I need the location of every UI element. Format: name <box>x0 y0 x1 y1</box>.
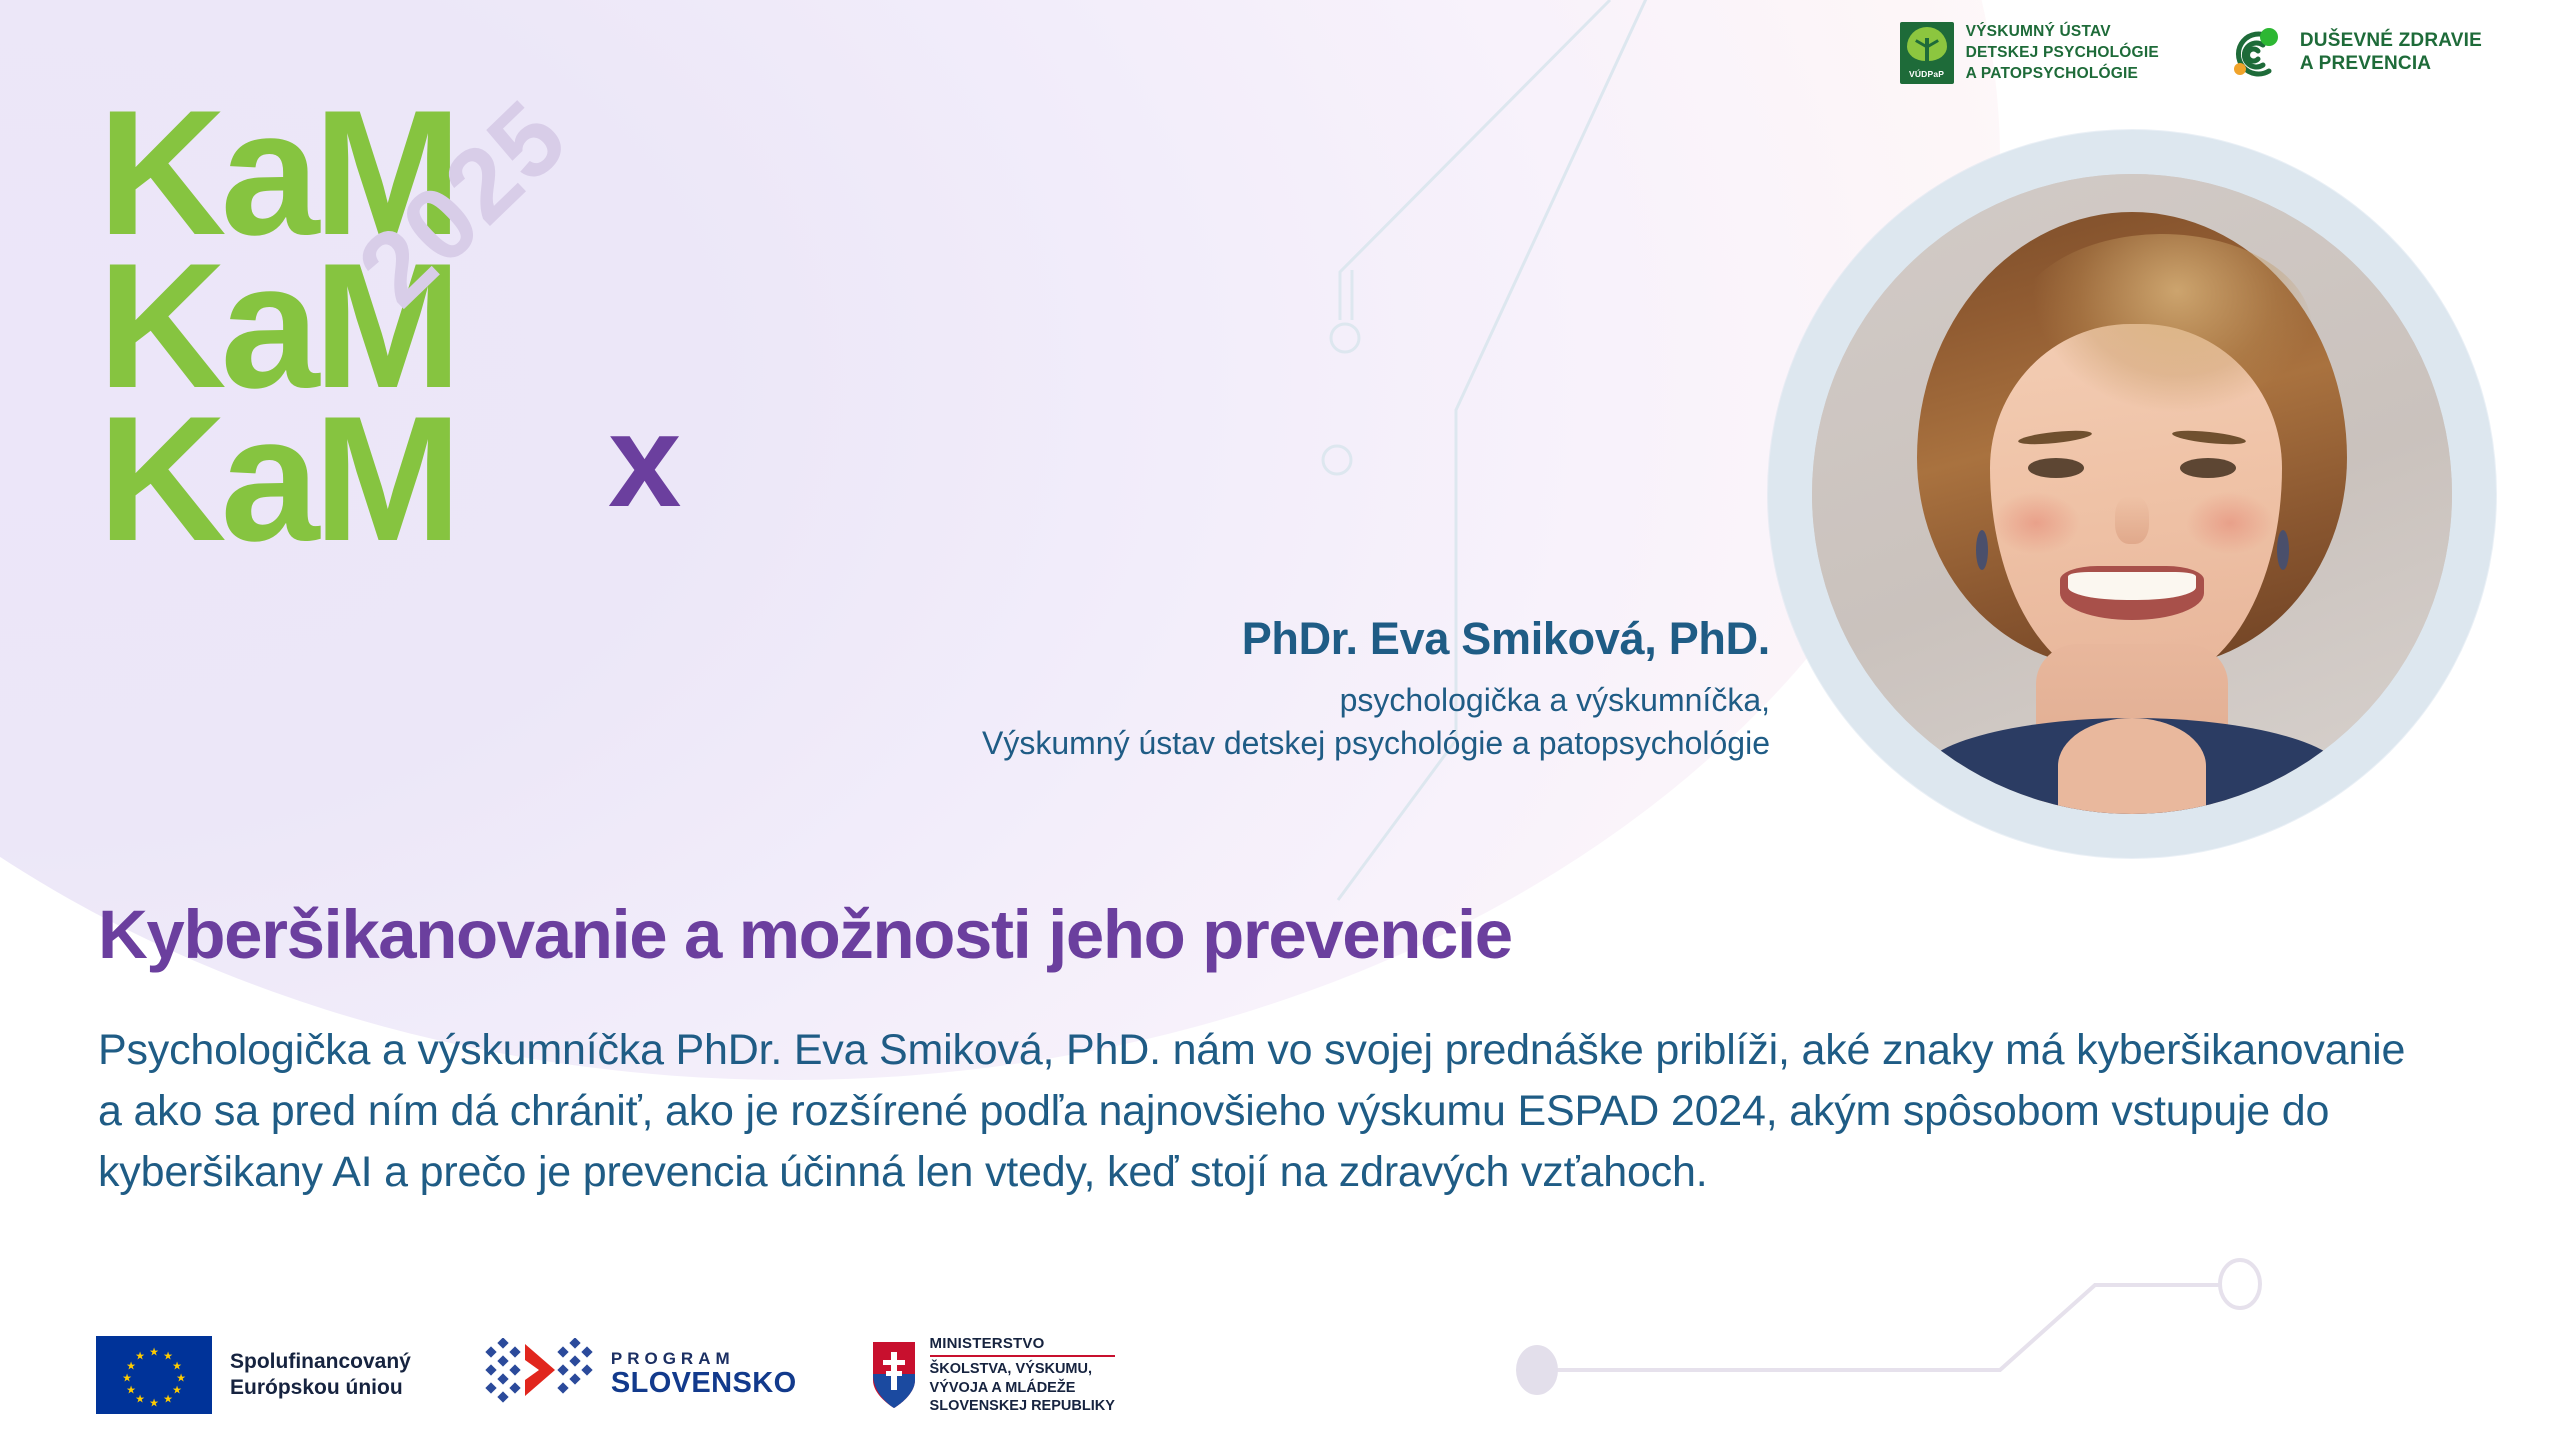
vudpap-line-2: DETSKEJ PSYCHOLÓGIE <box>1966 43 2159 64</box>
speaker-photo <box>1812 174 2452 814</box>
description-text: Psychologička a výskumníčka PhDr. Eva Sm… <box>98 1020 2408 1203</box>
speaker-block: PhDr. Eva Smiková, PhD. psychologička a … <box>680 612 1770 765</box>
ps-top: PROGRAM <box>611 1350 797 1369</box>
page-title: Kyberšikanovanie a možnosti jeho prevenc… <box>98 895 1512 974</box>
vudpap-line-3: A PATOPSYCHOLÓGIE <box>1966 64 2159 85</box>
logo-ministry: MINISTERSTVO ŠKOLSTVA, VÝSKUMU, VÝVOJA A… <box>871 1335 1115 1415</box>
diamond-arrow-icon <box>485 1338 595 1412</box>
speaker-name: PhDr. Eva Smiková, PhD. <box>680 612 1770 667</box>
speaker-photo-frame <box>1768 130 2496 858</box>
deco-dot-filled <box>1516 1345 1558 1395</box>
ministry-wordmark: MINISTERSTVO ŠKOLSTVA, VÝSKUMU, VÝVOJA A… <box>930 1335 1115 1415</box>
vudpap-wordmark: VÝSKUMNÝ ÚSTAV DETSKEJ PSYCHOLÓGIE A PAT… <box>1966 22 2159 84</box>
ministry-line-1: ŠKOLSTVA, VÝSKUMU, <box>930 1360 1115 1378</box>
eu-line-1: Spolufinancovaný <box>230 1349 411 1375</box>
deco-dot-outline <box>2220 1260 2260 1308</box>
logo-dusevne-zdravie: DUŠEVNÉ ZDRAVIE A PREVENCIA <box>2225 22 2482 84</box>
eu-wordmark: Spolufinancovaný Európskou úniou <box>230 1349 411 1402</box>
program-slovensko-wordmark: PROGRAM SLOVENSKO <box>611 1350 797 1401</box>
dz-line-2: A PREVENCIA <box>2300 53 2482 76</box>
deco-path-bottom-right <box>1545 1285 2235 1370</box>
slovak-coat-of-arms-icon <box>871 1340 917 1410</box>
vudpap-line-1: VÝSKUMNÝ ÚSTAV <box>1966 22 2159 43</box>
vudpap-mark-word: VÚDPaP <box>1900 69 1954 79</box>
logo-vudpap: VÚDPaP VÝSKUMNÝ ÚSTAV DETSKEJ PSYCHOLÓGI… <box>1900 22 2159 84</box>
eu-line-2: Európskou úniou <box>230 1375 411 1401</box>
dz-line-1: DUŠEVNÉ ZDRAVIE <box>2300 30 2482 53</box>
eu-flag-icon: ★ ★ ★ ★ ★ ★ ★ ★ ★ ★ ★ ★ <box>96 1336 212 1414</box>
tree-icon: VÚDPaP <box>1900 22 1954 84</box>
ministry-line-3: SLOVENSKEJ REPUBLIKY <box>930 1397 1115 1415</box>
logo-eu: ★ ★ ★ ★ ★ ★ ★ ★ ★ ★ ★ ★ Spolufinancovaný… <box>96 1336 411 1414</box>
partner-logos-top: VÚDPaP VÝSKUMNÝ ÚSTAV DETSKEJ PSYCHOLÓGI… <box>1900 22 2482 84</box>
speaker-role-line-1: psychologička a výskumníčka, <box>680 679 1770 722</box>
dz-wordmark: DUŠEVNÉ ZDRAVIE A PREVENCIA <box>2300 30 2482 76</box>
ministry-divider <box>930 1355 1115 1357</box>
ministry-line-2: VÝVOJA A MLÁDEŽE <box>930 1379 1115 1397</box>
logo-line-3: KaM <box>98 402 858 555</box>
partner-logos-footer: ★ ★ ★ ★ ★ ★ ★ ★ ★ ★ ★ ★ Spolufinancovaný… <box>96 1332 1115 1418</box>
logo-x-mark: x <box>608 395 681 527</box>
speaker-role-line-2: Výskumný ústav detskej psychológie a pat… <box>680 722 1770 765</box>
spiral-icon <box>2225 22 2287 84</box>
ministry-top: MINISTERSTVO <box>930 1335 1115 1353</box>
logo-program-slovensko: PROGRAM SLOVENSKO <box>485 1338 797 1412</box>
ps-bottom: SLOVENSKO <box>611 1368 797 1400</box>
